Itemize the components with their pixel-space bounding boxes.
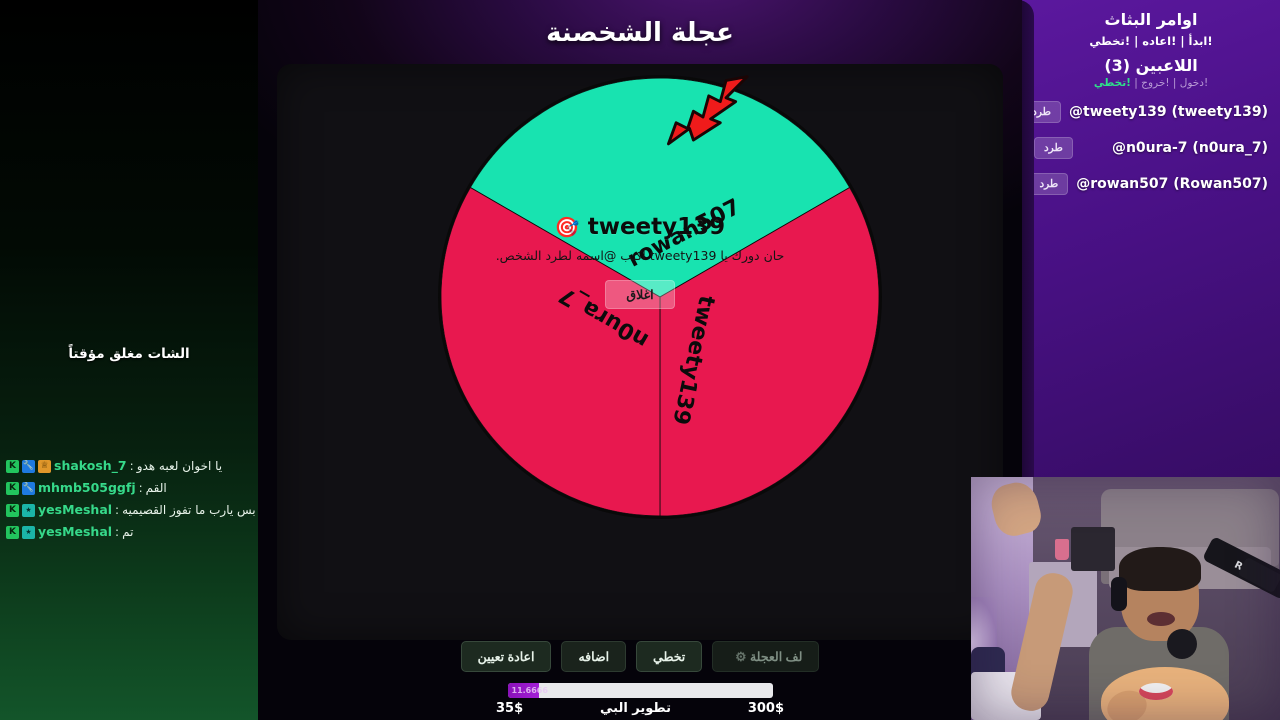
viewer-commands-prefix: !دخول | !خروج | — [1131, 77, 1208, 89]
chat-username[interactable]: yesMeshal — [38, 524, 112, 540]
chat-message: K 🔧 mhmb505ggfj : القم — [6, 480, 252, 496]
chat-separator: : — [115, 524, 119, 540]
winner-name-row: 🎯 tweety139 — [555, 214, 725, 240]
player-list: tweety139 (tweety139)@ طرد n0ura-7 (n0ur… — [1022, 101, 1280, 195]
player-row: rowan507 (Rowan507)@ طرد — [1022, 173, 1280, 195]
winner-name: tweety139 — [588, 214, 725, 240]
chat-text: بس يارب ما تفوز القصيميه — [122, 502, 256, 518]
player-name: n0ura-7 (n0ura_7)@ — [1081, 140, 1268, 156]
progress-bar-fill: 11.6666 — [508, 683, 539, 698]
chat-message: K ★ yesMeshal : بس يارب ما تفوز القصيميه — [6, 502, 252, 518]
progress-current-value: 35$ — [496, 701, 523, 716]
gear-icon: ⚙ — [735, 650, 746, 664]
chat-separator: : — [115, 502, 119, 518]
chat-separator: : — [130, 458, 134, 474]
skip-button[interactable]: تخطي — [636, 641, 702, 672]
spin-wheel-button[interactable]: لف العجلة ⚙ — [712, 641, 819, 672]
subscriber-badge-icon: ★ — [22, 526, 35, 539]
add-button[interactable]: اضافه — [561, 641, 626, 672]
chat-closed-notice: الشات مغلق مؤقتاً — [0, 346, 258, 362]
progress-legend: 300$ تطوير البي 35$ — [496, 701, 784, 716]
kick-player-button[interactable]: طرد — [1022, 101, 1061, 123]
progress-bar[interactable]: 11.6666 — [508, 683, 773, 698]
player-name: tweety139 (tweety139)@ — [1069, 104, 1268, 120]
progress-goal-label: تطوير البي — [600, 701, 671, 716]
player-row: tweety139 (tweety139)@ طرد — [1022, 101, 1280, 123]
viewer-commands-highlight: !تخطي — [1094, 77, 1131, 89]
webcam-vignette — [971, 477, 1280, 720]
kick-badge-icon: K — [6, 526, 19, 539]
chat-username[interactable]: yesMeshal — [38, 502, 112, 518]
wheel-toolbar: اعادة تعيين اضافه تخطي لف العجلة ⚙ — [258, 641, 1022, 672]
winner-instruction: حان دورك يا tweety139 اكتب @اسمه لطرد ال… — [496, 248, 785, 263]
chat-panel: الشات مغلق مؤقتاً K 🔧 ♕ shakosh_7 : يا ا… — [0, 0, 258, 720]
spin-wheel-label: لف العجلة — [750, 650, 802, 664]
progress-goal-value: 300$ — [748, 701, 784, 716]
kick-badge-icon: K — [6, 504, 19, 517]
wheel-card: tweety139 n0ura_7 rowan507 🎯 tweety139 ح… — [277, 64, 1003, 640]
moderator-wrench-icon: 🔧 — [22, 460, 35, 473]
chat-text: القم — [146, 480, 167, 496]
players-count-label: اللاعبين (3) — [1022, 56, 1280, 75]
webcam-overlay: RØDE — [971, 477, 1280, 720]
kick-player-button[interactable]: طرد — [1029, 173, 1068, 195]
chat-message: K 🔧 ♕ shakosh_7 : يا اخوان لعبه هدو — [6, 458, 252, 474]
chat-message: K ★ yesMeshal : تم — [6, 524, 252, 540]
winner-modal: 🎯 tweety139 حان دورك يا tweety139 اكتب @… — [277, 214, 1003, 309]
kick-player-button[interactable]: طرد — [1034, 137, 1073, 159]
kick-badge-icon: K — [6, 460, 19, 473]
kick-badge-icon: K — [6, 482, 19, 495]
donation-goal-block: 11.6666 300$ تطوير البي 35$ — [258, 683, 1022, 716]
dart-target-icon: 🎯 — [555, 217, 580, 237]
broadcaster-commands: !ابدأ | !اعاده | !تخطي — [1022, 34, 1280, 48]
vip-crown-icon: ♕ — [38, 460, 51, 473]
chat-username[interactable]: shakosh_7 — [54, 458, 127, 474]
page-title: عجلة الشخصنة — [258, 18, 1022, 48]
stream-overlay-screen: الشات مغلق مؤقتاً K 🔧 ♕ shakosh_7 : يا ا… — [0, 0, 1280, 720]
wheel-stage: عجلة الشخصنة tweety139 n0ura_7 rowan507 … — [258, 0, 1022, 720]
chat-text: تم — [122, 524, 133, 540]
chat-separator: : — [139, 480, 143, 496]
chat-message-list: K 🔧 ♕ shakosh_7 : يا اخوان لعبه هدو K 🔧 … — [0, 458, 258, 540]
subscriber-badge-icon: ★ — [22, 504, 35, 517]
chat-text: يا اخوان لعبه هدو — [137, 458, 222, 474]
reset-button[interactable]: اعادة تعيين — [461, 641, 552, 672]
panel-title: اوامر البثاث — [1022, 10, 1280, 29]
viewer-commands: !دخول | !خروج | !تخطي — [1022, 77, 1280, 89]
close-modal-button[interactable]: اغلاق — [605, 280, 674, 309]
player-name: rowan507 (Rowan507)@ — [1076, 176, 1268, 192]
progress-fill-label: 11.6666 — [512, 686, 548, 695]
chat-username[interactable]: mhmb505ggfj — [38, 480, 136, 496]
player-row: n0ura-7 (n0ura_7)@ طرد — [1022, 137, 1280, 159]
moderator-wrench-icon: 🔧 — [22, 482, 35, 495]
